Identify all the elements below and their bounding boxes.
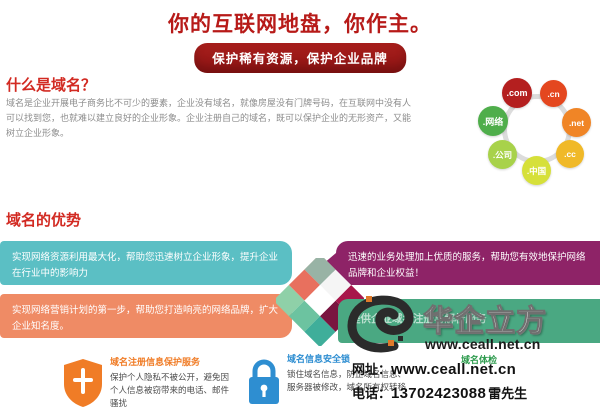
intro-heading: 什么是域名？ bbox=[6, 74, 96, 95]
feature-shield-heading: 域名注册信息保护服务 bbox=[110, 355, 232, 368]
intro-body: 域名是企业开展电子商务比不可少的要素，企业没有域名，就像房屋没有门牌号码，在互联… bbox=[6, 96, 411, 141]
domain-node-中国: .中国 bbox=[522, 156, 551, 185]
brand-e-logo-icon bbox=[344, 292, 430, 354]
domain-node-cn: .cn bbox=[540, 80, 567, 107]
contact-block: 网址： www.ceall.net.cn 电话： 13702423088 雷先生 bbox=[352, 358, 527, 406]
contact-phone-row: 电话： 13702423088 雷先生 bbox=[352, 382, 527, 406]
domain-node-net: .net bbox=[562, 108, 591, 137]
contact-url-label: 网址： bbox=[352, 358, 391, 382]
domain-wheel: .com.cn.net.cc.中国.公司.网络 bbox=[478, 78, 596, 190]
contact-phone-label: 电话： bbox=[352, 382, 391, 406]
promo-page: 你的互联网地盘，你作主。 保护稀有资源，保护企业品牌 什么是域名？ 域名是企业开… bbox=[0, 0, 600, 416]
domain-node-网络: .网络 bbox=[478, 106, 508, 136]
contact-url-row: 网址： www.ceall.net.cn bbox=[352, 358, 527, 382]
domain-node-公司: .公司 bbox=[488, 140, 517, 169]
lock-icon bbox=[246, 358, 282, 406]
feature-shield-body: 保护个人隐私不被公开，避免因个人信息被窃带来的电话、邮件骚扰 bbox=[110, 371, 232, 410]
hero-ribbon: 保护稀有资源，保护企业品牌 bbox=[194, 43, 406, 73]
advantage-card-3-text: 迅速的业务处理加上优质的服务，帮助您有效地保护网络品牌和企业权益！ bbox=[348, 252, 586, 279]
shield-icon bbox=[62, 358, 104, 408]
contact-url-value[interactable]: www.ceall.net.cn bbox=[391, 358, 516, 382]
advantage-card-3: 迅速的业务处理加上优质的服务，帮助您有效地保护网络品牌和企业权益！ bbox=[336, 241, 600, 285]
advantage-card-1: 实现网络资源利用最大化，帮助您迅速树立企业形象，提升企业在行业中的影响力 bbox=[0, 241, 292, 285]
feature-shield: 域名注册信息保护服务 保护个人隐私不被公开，避免因个人信息被窃带来的电话、邮件骚… bbox=[110, 355, 232, 410]
advantage-card-2: 实现网络营销计划的第一步，帮助您打造响亮的网络品牌，扩大企业知名度。 bbox=[0, 294, 292, 338]
advantages-heading: 域名的优势 bbox=[6, 209, 81, 230]
contact-person: 雷先生 bbox=[488, 382, 527, 406]
brand-url: www.ceall.net.cn bbox=[425, 336, 541, 352]
domain-node-cc: .cc bbox=[556, 140, 584, 168]
contact-phone-value: 13702423088 bbox=[391, 382, 486, 406]
brand-name: 华企立方 bbox=[423, 296, 547, 340]
page-title: 你的互联网地盘，你作主。 bbox=[0, 8, 600, 38]
domain-node-com: .com bbox=[502, 78, 532, 108]
